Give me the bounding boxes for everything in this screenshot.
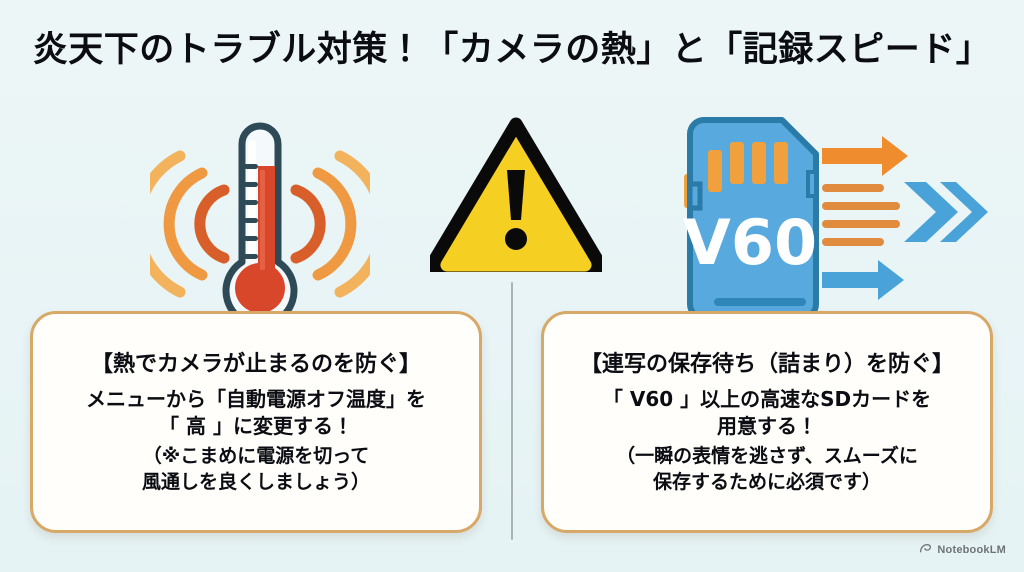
card-note-line: 風通しを良くしましょう） xyxy=(43,469,469,495)
watermark-label: NotebookLM xyxy=(937,544,1006,556)
slide-canvas: 炎天下のトラブル対策！「カメラの熱」と「記録スピード」 xyxy=(0,0,1024,572)
sd-card-icon: V60 xyxy=(672,112,992,339)
card-body: メニューから「自動電源オフ温度」を 「 高 」に変更する！ xyxy=(43,386,469,440)
card-note: （一瞬の表情を逃さず、スムーズに 保存するために必須です） xyxy=(554,443,980,495)
card-note-line: （※こまめに電源を切って xyxy=(43,443,469,469)
tip-card-heat: 【熱でカメラが止まるのを防ぐ】 メニューから「自動電源オフ温度」を 「 高 」に… xyxy=(30,311,482,533)
warning-triangle-icon xyxy=(430,112,602,277)
page-title: 炎天下のトラブル対策！「カメラの熱」と「記録スピード」 xyxy=(0,26,1024,74)
sdcard-label: V60 xyxy=(683,206,817,279)
card-heading: 【熱でカメラが止まるのを防ぐ】 xyxy=(43,350,469,380)
thermometer-icon xyxy=(150,118,370,335)
watermark: NotebookLM xyxy=(919,542,1006,558)
card-body-line: メニューから「自動電源オフ温度」を xyxy=(43,386,469,413)
card-body-line: 「 V60 」以上の高速なSDカードを xyxy=(554,386,980,413)
card-body-line: 用意する！ xyxy=(554,413,980,440)
column-divider xyxy=(511,282,513,540)
card-note-line: （一瞬の表情を逃さず、スムーズに xyxy=(554,443,980,469)
notebooklm-logo-icon xyxy=(919,542,932,558)
card-heading: 【連写の保存待ち（詰まり）を防ぐ】 xyxy=(554,350,980,380)
card-note-line: 保存するために必須です） xyxy=(554,469,980,495)
speed-arrows-icon xyxy=(822,136,988,300)
card-note: （※こまめに電源を切って 風通しを良くしましょう） xyxy=(43,443,469,495)
tip-card-speed: 【連写の保存待ち（詰まり）を防ぐ】 「 V60 」以上の高速なSDカードを 用意… xyxy=(541,311,993,533)
card-body: 「 V60 」以上の高速なSDカードを 用意する！ xyxy=(554,386,980,440)
card-body-line: 「 高 」に変更する！ xyxy=(43,413,469,440)
